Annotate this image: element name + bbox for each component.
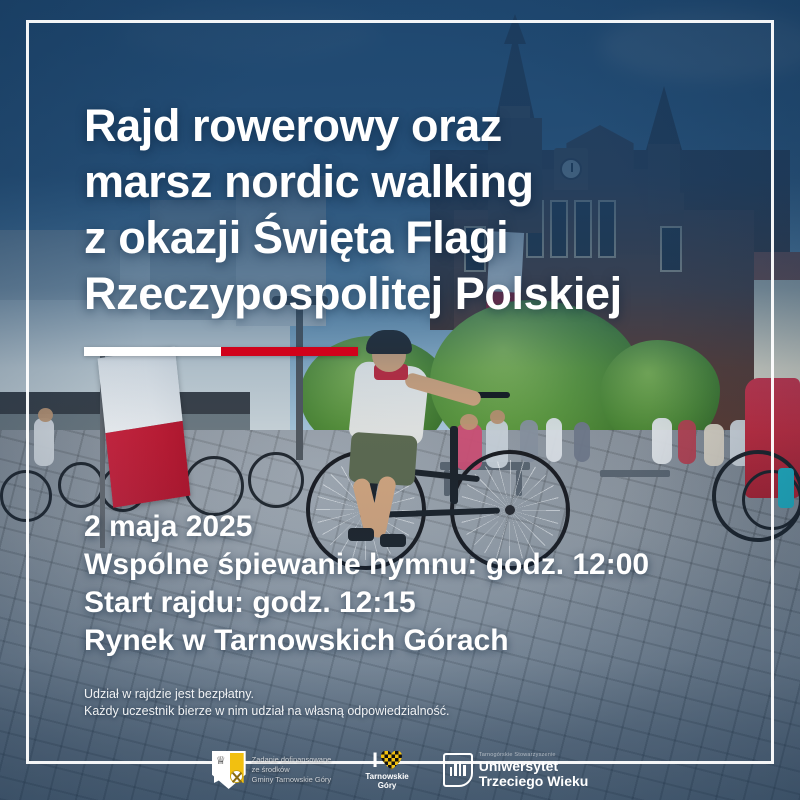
utw-title-line-2: Trzeciego Wieku: [479, 774, 589, 789]
divider-red-half: [221, 347, 358, 356]
event-location: Rynek w Tarnowskich Górach: [84, 622, 764, 660]
event-details: 2 maja 2025 Wspólne śpiewanie hymnu: god…: [84, 508, 764, 660]
polish-flag-divider: [84, 347, 358, 356]
funding-line-1: Zadanie dofinansowane: [252, 755, 332, 765]
eagle-icon: ♕: [215, 755, 227, 768]
event-anthem-time: Wspólne śpiewanie hymnu: godz. 12:00: [84, 546, 764, 584]
event-start-time: Start rajdu: godz. 12:15: [84, 584, 764, 622]
heart-icon: [381, 751, 402, 770]
i-heart-row: I: [372, 750, 402, 771]
logo-gmina-tarnowskie-gory[interactable]: ♕ Zadanie dofinansowane ze środków Gminy…: [212, 751, 332, 789]
funding-note: Zadanie dofinansowane ze środków Gminy T…: [252, 755, 332, 785]
funding-line-3: Gminy Tarnowskie Góry: [252, 775, 332, 785]
bar: [459, 761, 462, 776]
logo-i-love-tarnowskie-gory[interactable]: I Tarnowskie Góry: [365, 750, 408, 791]
disclaimer: Udział w rajdzie jest bezpłatny. Każdy u…: [84, 686, 684, 720]
divider-white-half: [84, 347, 221, 356]
bar: [450, 767, 453, 776]
city-name: Tarnowskie Góry: [365, 772, 408, 791]
headline-line-3: z okazji Święta Flagi: [84, 210, 744, 266]
headline-line-4: Rzeczypospolitej Polskiej: [84, 266, 744, 322]
headline-line-1: Rajd rowerowy oraz: [84, 98, 744, 154]
utw-text: Tarnogórskie Stowarzyszenie Uniwersytet …: [479, 752, 589, 789]
coat-of-arms-icon: ♕: [212, 751, 246, 789]
event-poster: Rajd rowerowy oraz marsz nordic walking …: [0, 0, 800, 800]
book-pages-icon: [450, 761, 466, 776]
bar: [463, 765, 466, 776]
letter-i: I: [372, 750, 378, 771]
bar: [454, 763, 457, 776]
sponsor-logos: ♕ Zadanie dofinansowane ze środków Gminy…: [0, 748, 800, 792]
utw-title-line-1: Uniwersytet: [479, 759, 589, 774]
city-name-line-1: Tarnowskie: [365, 772, 408, 782]
funding-line-2: ze środków: [252, 765, 332, 775]
heart-shape: [381, 751, 402, 770]
headline-line-2: marsz nordic walking: [84, 154, 744, 210]
event-date: 2 maja 2025: [84, 508, 764, 546]
logo-uniwersytet-trzeciego-wieku[interactable]: Tarnogórskie Stowarzyszenie Uniwersytet …: [443, 752, 589, 789]
disclaimer-line-2: Każdy uczestnik bierze w nim udział na w…: [84, 703, 684, 720]
city-name-line-2: Góry: [365, 781, 408, 791]
disclaimer-line-1: Udział w rajdzie jest bezpłatny.: [84, 686, 684, 703]
utw-shield-icon: [443, 753, 473, 787]
page-title: Rajd rowerowy oraz marsz nordic walking …: [84, 98, 744, 322]
crossed-hammers-icon: [230, 770, 243, 783]
